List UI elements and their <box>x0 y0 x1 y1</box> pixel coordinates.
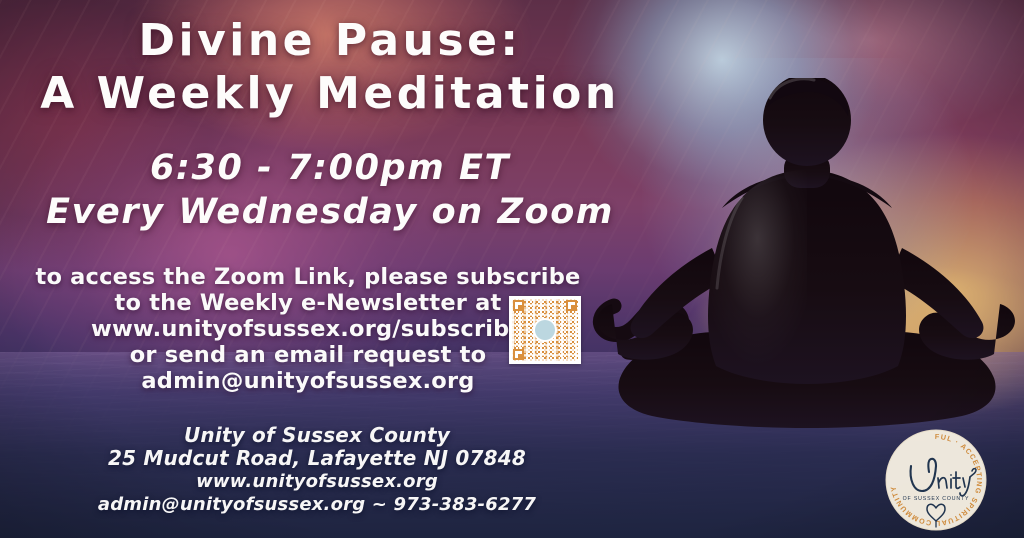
footer-contact-block: Unity of Sussex County 25 Mudcut Road, L… <box>0 424 634 516</box>
title-line-2: A Weekly Meditation <box>0 67 660 120</box>
org-address: 25 Mudcut Road, Lafayette NJ 07848 <box>0 447 634 470</box>
qr-finder-top-right-icon <box>566 300 577 311</box>
org-name: Unity of Sussex County <box>0 424 634 447</box>
unity-logo-badge[interactable]: A JOYFUL · ACCEPTING SPIRITUAL COMMUNITY… <box>884 428 988 532</box>
info-line-1: to access the Zoom Link, please subscrib… <box>0 264 616 290</box>
qr-finder-bottom-left-icon <box>513 349 524 360</box>
schedule-block: 6:30 - 7:00pm ET Every Wednesday on Zoom <box>0 146 660 234</box>
schedule-time: 6:30 - 7:00pm ET <box>0 146 660 190</box>
qr-code-modules <box>512 299 578 361</box>
meditation-flyer: Divine Pause: A Weekly Meditation 6:30 -… <box>0 0 1024 538</box>
org-email-phone[interactable]: admin@unityofsussex.org ~ 973-383-6277 <box>0 493 634 516</box>
title-line-1: Divine Pause: <box>0 14 660 67</box>
logo-subtitle: OF SUSSEX COUNTY <box>903 496 970 502</box>
contact-email[interactable]: admin@unityofsussex.org <box>0 368 616 394</box>
schedule-day: Every Wednesday on Zoom <box>0 190 660 234</box>
qr-center-logo-icon <box>535 320 555 340</box>
unity-seal-icon: A JOYFUL · ACCEPTING SPIRITUAL COMMUNITY… <box>884 428 988 532</box>
page-title: Divine Pause: A Weekly Meditation <box>0 14 660 120</box>
qr-code[interactable] <box>509 296 581 364</box>
qr-finder-top-left-icon <box>513 300 524 311</box>
org-website[interactable]: www.unityofsussex.org <box>0 470 634 493</box>
